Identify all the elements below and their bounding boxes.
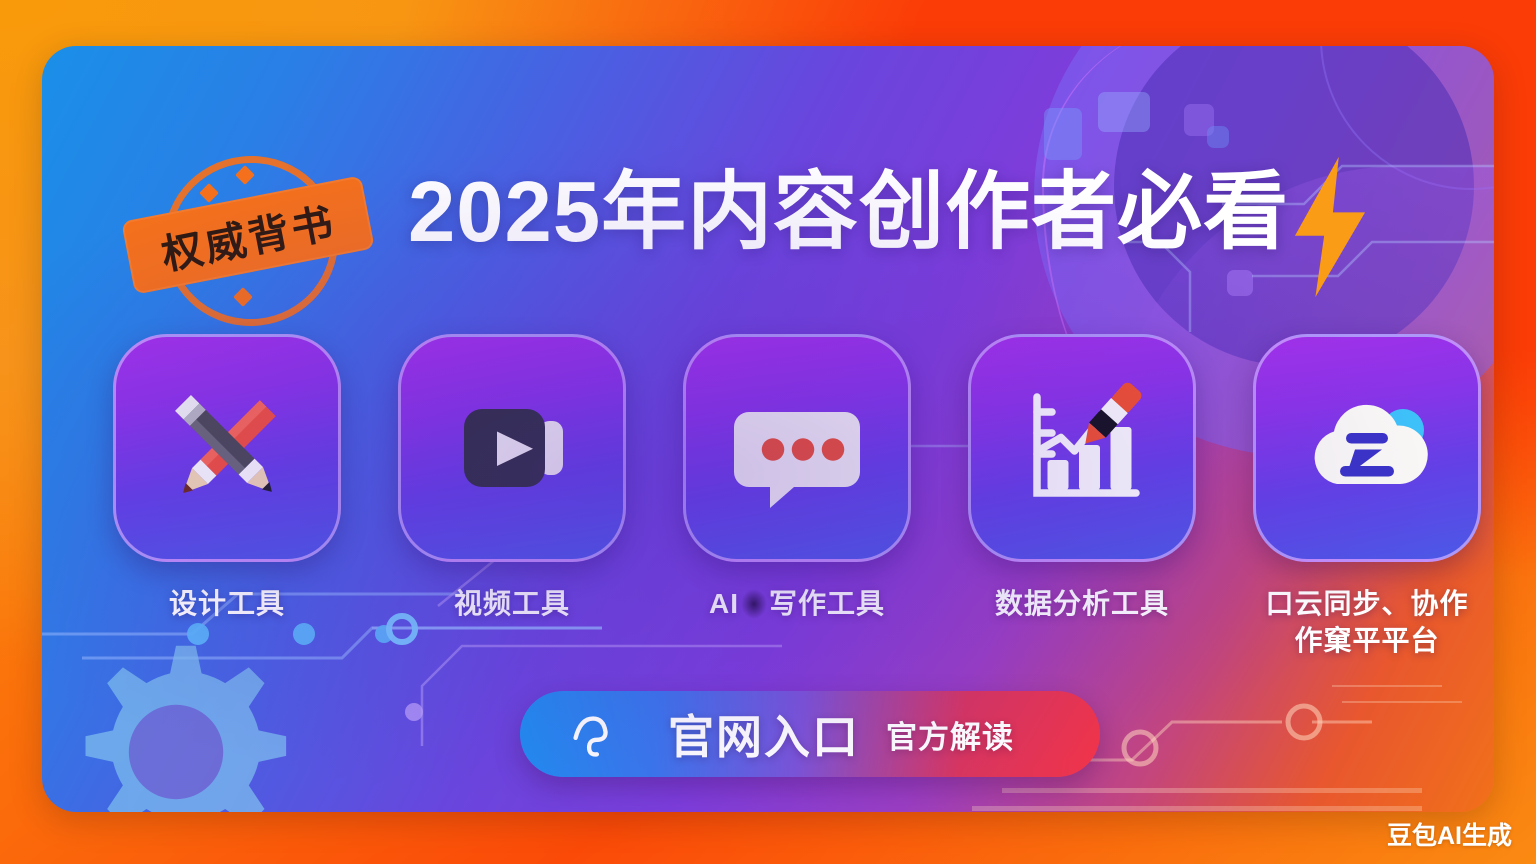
- feature-label-cloud: 口云同步、协作 作窠平平台: [1265, 586, 1468, 660]
- feature-label-ai-main: 写作工具: [769, 588, 885, 619]
- page-title: 2025年内容创作者必看: [408, 170, 1289, 255]
- cloud-arc-icon: [564, 705, 622, 763]
- watermark: 豆包AI生成: [1387, 816, 1512, 852]
- feature-label-analytics: 数据分析工具: [995, 586, 1169, 623]
- feature-label-ai-writing: AI写作工具: [709, 586, 885, 623]
- cta-main-label: 官网入口: [668, 701, 860, 767]
- icon-card-analytics[interactable]: [968, 334, 1196, 562]
- poster-canvas: 权威背书 2025年内容创作者必看: [0, 0, 1536, 864]
- label-smudge: [741, 589, 767, 619]
- icon-card-design[interactable]: [113, 334, 341, 562]
- feature-label-cloud-line2: 作窠平平台: [1294, 625, 1439, 656]
- chat-bubble-icon: [722, 373, 872, 523]
- lightning-bolt-icon: [1284, 154, 1376, 300]
- feature-label-design: 设计工具: [169, 586, 285, 623]
- gear-icon: [58, 634, 294, 812]
- cta-sub-label: 官方解读: [886, 712, 1014, 757]
- icon-card-video[interactable]: [398, 334, 626, 562]
- video-play-icon: [437, 373, 587, 523]
- icon-card-cloud[interactable]: [1253, 334, 1481, 562]
- feature-label-ai-prefix: AI: [709, 588, 739, 619]
- feature-item-analytics[interactable]: 数据分析工具: [957, 334, 1207, 623]
- feature-label-cloud-line1: 口云同步、协作: [1265, 588, 1468, 619]
- feature-item-video[interactable]: 视频工具: [387, 334, 637, 623]
- cta-button[interactable]: 官网入口 官方解读: [520, 691, 1100, 777]
- feature-row: 设计工具 视频工具: [102, 334, 1492, 660]
- feature-label-video: 视频工具: [454, 586, 570, 623]
- feature-item-cloud[interactable]: 口云同步、协作 作窠平平台: [1242, 334, 1492, 660]
- cloud-sync-icon: [1292, 373, 1442, 523]
- feature-item-ai-writing[interactable]: AI写作工具: [672, 334, 922, 623]
- feature-item-design[interactable]: 设计工具: [102, 334, 352, 623]
- icon-card-ai-writing[interactable]: [683, 334, 911, 562]
- poster-card: 权威背书 2025年内容创作者必看: [42, 46, 1494, 812]
- crossed-pencils-icon: [152, 373, 302, 523]
- authority-stamp: 权威背书: [130, 150, 380, 318]
- bar-chart-pen-icon: [1007, 373, 1157, 523]
